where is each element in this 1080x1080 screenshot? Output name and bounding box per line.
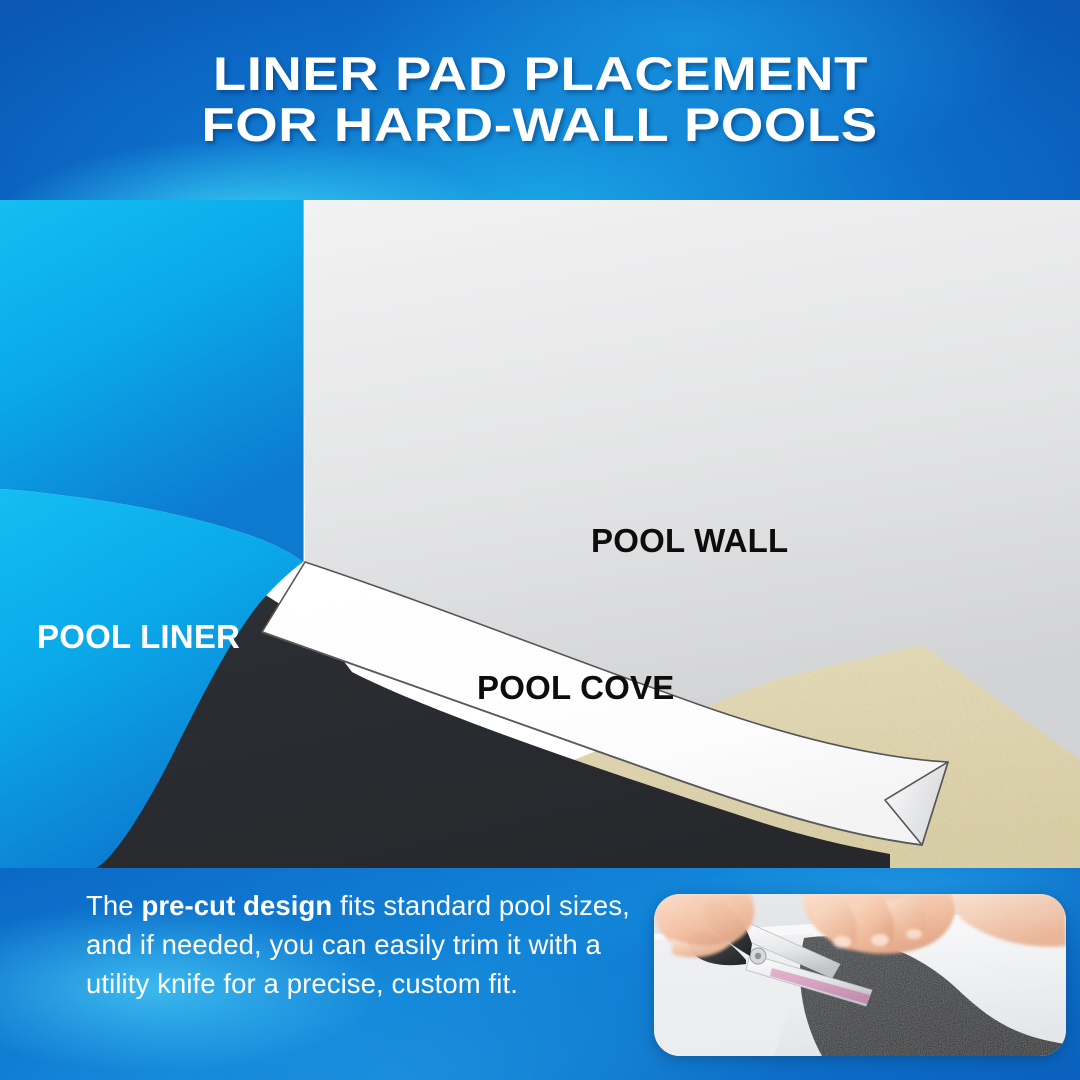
scissors-cutting-photo bbox=[654, 894, 1066, 1056]
header-title-block: LINER PAD PLACEMENT FOR HARD-WALL POOLS bbox=[0, 0, 1080, 200]
label-pool-cove: POOL COVE bbox=[477, 669, 674, 707]
label-pool-wall: POOL WALL bbox=[591, 522, 788, 560]
footer-caption: The pre-cut design fits standard pool si… bbox=[86, 886, 631, 1003]
label-pool-liner: POOL LINER bbox=[37, 618, 240, 656]
pool-cross-section-diagram: POOL LINER POOL WALL POOL COVE LINER PAD… bbox=[0, 200, 1080, 868]
header-banner: LINER PAD PLACEMENT FOR HARD-WALL POOLS bbox=[0, 0, 1080, 200]
page-title-line-2: FOR HARD-WALL POOLS bbox=[202, 101, 878, 150]
page-title-line-1: LINER PAD PLACEMENT bbox=[212, 50, 867, 99]
footer-banner: The pre-cut design fits standard pool si… bbox=[0, 868, 1080, 1080]
caption-bold-phrase: pre-cut design bbox=[141, 890, 332, 921]
caption-text-before: The bbox=[86, 890, 141, 921]
infographic-page: LINER PAD PLACEMENT FOR HARD-WALL POOLS bbox=[0, 0, 1080, 1080]
